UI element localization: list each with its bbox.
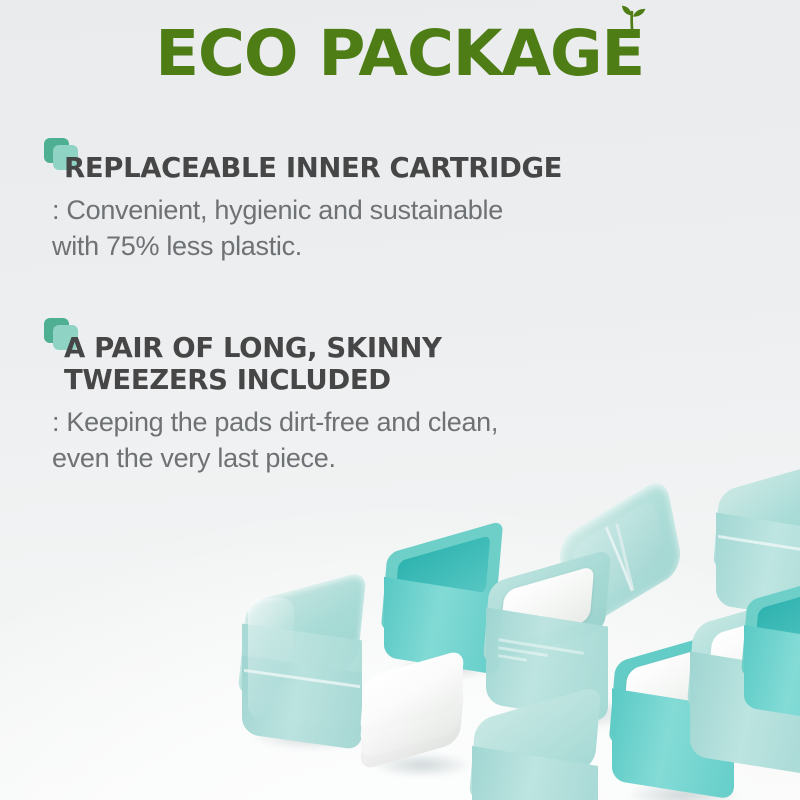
container-lid-top: [469, 685, 602, 800]
frosted-container-right: [690, 600, 800, 780]
container-front-face: [486, 607, 608, 722]
object-shadow: [352, 748, 492, 782]
cartridge-front-face: [612, 688, 734, 799]
feature-heading-1: REPLACEABLE INNER CARTRIDGE: [64, 138, 562, 184]
frosted-container-top-right: [716, 470, 800, 630]
tweezers-icon: [586, 515, 657, 601]
open-container-with-lid-and-tweezers: [480, 495, 690, 725]
floor-glow: [0, 544, 800, 800]
frosted-container-bottom-left: [472, 700, 612, 800]
cotton-pad: [359, 683, 464, 771]
object-shadow: [604, 776, 764, 800]
cotton-pad-inside: [708, 608, 800, 692]
object-shadow: [378, 652, 514, 684]
cartridge-front-face: [384, 577, 500, 675]
container-seam: [244, 669, 360, 688]
container-front-face: [472, 746, 598, 800]
title-block: ECO PACKAGE: [0, 22, 800, 85]
container-lid-side: [242, 624, 362, 687]
object-shadow: [476, 692, 666, 736]
feature-block-2: A PAIR OF LONG, SKINNY TWEEZERS INCLUDED…: [44, 318, 498, 477]
object-shadow: [228, 716, 396, 756]
page-title-text: ECO PACKAGE: [156, 17, 645, 90]
container-front-face: [716, 512, 800, 623]
cotton-pad-inside: [500, 565, 595, 646]
cartridge-rim: [381, 520, 504, 631]
solid-cartridge-with-pad: [612, 640, 744, 800]
frosted-closed-container: [236, 560, 376, 745]
infographic-canvas: ECO PACKAGE REPLACEABLE INNER CARTRIDGE …: [0, 0, 800, 800]
solid-cartridge-far-right: [744, 580, 800, 730]
feature-body-1: : Convenient, hygienic and sustainable w…: [52, 193, 562, 265]
container-open-lid-inner: [572, 498, 667, 611]
cartridge-rim: [609, 628, 738, 745]
cotton-pad-inside: [622, 643, 723, 730]
container-lid-top: [237, 571, 367, 698]
container-label: [498, 638, 584, 678]
cartridge-cavity: [754, 584, 800, 665]
container-base: [242, 656, 362, 751]
page-title: ECO PACKAGE: [156, 22, 645, 85]
cotton-pad: [359, 661, 464, 749]
container-highlight: [248, 597, 294, 719]
cotton-pad: [359, 672, 464, 760]
cartridge-rim: [741, 569, 800, 677]
container-open-rim: [483, 549, 612, 666]
cotton-pad-stack: [362, 662, 478, 770]
container-front-face: [690, 652, 800, 777]
solid-open-cartridge: [382, 530, 504, 680]
container-seam: [718, 535, 800, 556]
feature-heading-2: A PAIR OF LONG, SKINNY TWEEZERS INCLUDED: [64, 318, 498, 396]
feature-body-2: : Keeping the pads dirt-free and clean, …: [52, 405, 498, 477]
cartridge-front-face: [744, 625, 800, 725]
container-lid-top: [686, 588, 800, 712]
pad-stack-side: [362, 684, 462, 748]
cotton-pad: [359, 649, 464, 737]
feature-block-1: REPLACEABLE INNER CARTRIDGE : Convenient…: [44, 138, 562, 265]
cartridge-cavity: [394, 535, 491, 619]
container-lid-top: [713, 458, 800, 572]
container-open-lid: [556, 475, 683, 634]
